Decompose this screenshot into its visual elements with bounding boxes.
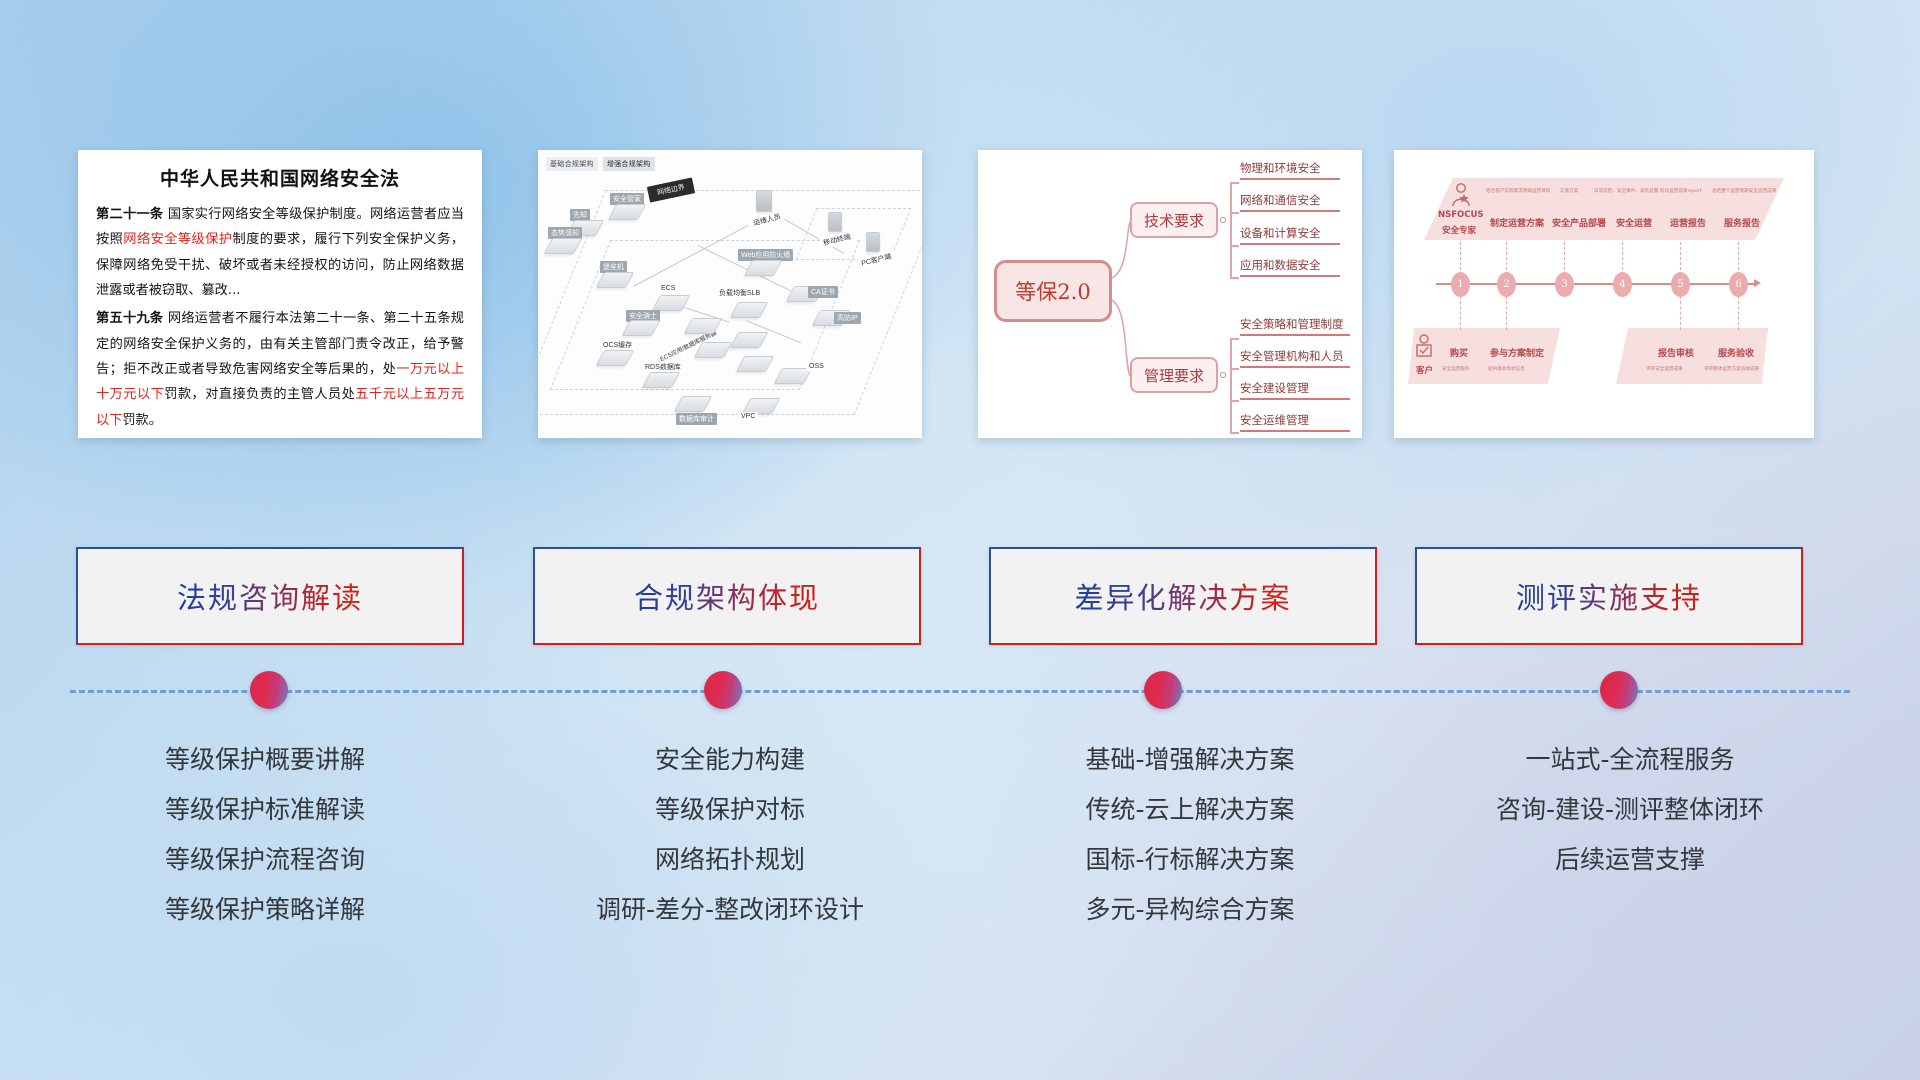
nsfocus-bottom-note-1: 安全运营服务 [1442, 366, 1470, 372]
list-item: 等级保护对标 [520, 785, 940, 835]
arch-node-oss: OSS [778, 368, 808, 384]
list-item: 传统-云上解决方案 [960, 785, 1420, 835]
timeline-dot-1[interactable] [250, 671, 288, 709]
nsfocus-dash-b2 [1506, 296, 1507, 330]
card-law-document[interactable]: 中华人民共和国网络安全法 第二十一条 国家实行网络安全等级保护制度。网络运营者应… [78, 150, 482, 438]
nsfocus-axis-arrow [1754, 279, 1761, 287]
nsfocus-bottom-note-3: 评审安全运营成果 [1646, 366, 1683, 372]
list-item: 国标-行标解决方案 [960, 835, 1420, 885]
timeline-dashed-line [70, 690, 1850, 693]
law-body-text: 罚款。 [122, 413, 162, 428]
list-item: 等级保护流程咨询 [50, 835, 480, 885]
law-article-21: 第二十一条 国家实行网络安全等级保护制度。网络运营者应当按照网络安全等级保护制度… [96, 202, 464, 303]
card-mindmap[interactable]: 等保2.0 技术要求 管理要求 物理和环境安全 网络和通信安全 设备和计算安全 … [978, 150, 1362, 438]
nsfocus-process-diagram: NSFOCUS 安全专家 结合客户实际需求明确运营目标 制定运营方案 实施方案 … [1394, 150, 1814, 438]
nsfocus-step-node-5[interactable]: 5 [1671, 272, 1690, 297]
mindmap-tick-m4 [1230, 432, 1239, 434]
arch-node-rds-database: RDS数据库 [646, 372, 676, 388]
list-item: 等级保护策略详解 [50, 885, 480, 935]
arch-node-db-audit: 数据库审计 [678, 396, 708, 412]
arch-node-ocs-cache: OCS缓存 [600, 350, 630, 366]
nsfocus-bottom-title-1: 购买 [1450, 346, 1468, 359]
arch-node-vpc: VPC [746, 398, 776, 414]
law-article-label: 第五十九条 [96, 311, 163, 326]
arch-node-mobile-terminal: 移动终端 [828, 212, 842, 232]
header-label-4: 测评实施支持 [1516, 575, 1702, 617]
customer-icon [1414, 334, 1434, 360]
mindmap-leaf-m3: 安全建设管理 [1240, 380, 1350, 400]
section-headers-row: 法规咨询解读 合规架构体现 差异化解决方案 测评实施支持 [0, 547, 1920, 645]
list-item: 等级保护标准解读 [50, 785, 480, 835]
arch-node-ops-staff: 运维人员 [756, 190, 772, 212]
mindmap-tick-t3 [1230, 245, 1239, 247]
arch-node-security-knight: 安全骑士 [626, 320, 656, 336]
list-item: 等级保护概要讲解 [50, 735, 480, 785]
nsfocus-top-note-1: 结合客户实际需求明确运营目标 [1486, 188, 1550, 194]
nsfocus-step-node-6[interactable]: 6 [1729, 272, 1748, 297]
mindmap-leaf-t4: 应用和数据安全 [1240, 257, 1340, 277]
nsfocus-step-node-4[interactable]: 4 [1613, 272, 1632, 297]
detail-lists-row: 等级保护概要讲解 等级保护标准解读 等级保护流程咨询 等级保护策略详解 安全能力… [0, 735, 1920, 985]
mindmap-tick-m1 [1230, 338, 1239, 340]
list-item: 调研-差分-整改闭环设计 [520, 885, 940, 935]
nsfocus-dash-b4 [1738, 296, 1739, 330]
mindmap-leaf-t1: 物理和环境安全 [1240, 160, 1340, 180]
security-expert-icon [1450, 182, 1472, 208]
mindmap-branch-management: 管理要求 [1130, 357, 1218, 393]
list-item: 安全能力构建 [520, 735, 940, 785]
nsfocus-top-title-2: 安全产品部署 [1552, 216, 1606, 229]
arch-node-situation-awareness: 态势感知 [548, 238, 578, 254]
nsfocus-top-title-1: 制定运营方案 [1490, 216, 1544, 229]
arch-node-ca-certificate: CA证书 [790, 286, 820, 302]
law-highlight-text: 网络安全等级保护 [123, 232, 232, 247]
nsfocus-axis-line [1436, 283, 1756, 285]
mindmap-tick-t4 [1230, 277, 1239, 279]
timeline-track [0, 688, 1920, 694]
thumbnail-cards-row: 中华人民共和国网络安全法 第二十一条 国家实行网络安全等级保护制度。网络运营者应… [0, 150, 1920, 440]
header-box-evaluation-support[interactable]: 测评实施支持 [1415, 547, 1803, 645]
nsfocus-top-title-4: 运营报告 [1670, 216, 1706, 229]
nsfocus-top-note-2: 实施方案 [1560, 188, 1578, 194]
law-article-59: 第五十九条 网络运营者不履行本法第二十一条、第二十五条规定的网络安全保护义务的，… [96, 306, 464, 433]
nsfocus-step-node-1[interactable]: 1 [1451, 272, 1470, 297]
architecture-diagram: 基础合规架构 增强合规架构 网络边界 安全管家 先知 [538, 150, 922, 438]
law-article-label: 第二十一条 [96, 207, 163, 222]
arch-node-server-stack-a [688, 318, 718, 334]
mindmap-tick-t2 [1230, 212, 1239, 214]
arch-node-security-butler: 安全管家 [608, 204, 642, 220]
nsfocus-top-note-3: 日常巡检、安全事件、高危处置 [1594, 188, 1658, 194]
mindmap-leaf-m1: 安全策略和管理制度 [1240, 316, 1350, 336]
header-label-3: 差异化解决方案 [1074, 575, 1291, 617]
nsfocus-top-title-3: 安全运营 [1616, 216, 1652, 229]
list-item: 多元-异构综合方案 [960, 885, 1420, 935]
list-item: 后续运营支撑 [1430, 835, 1830, 885]
law-body-text: 罚款，对直接负责的主管人员处 [164, 387, 355, 402]
law-document-body: 中华人民共和国网络安全法 第二十一条 国家实行网络安全等级保护制度。网络运营者应… [78, 150, 482, 438]
mindmap-tick-m2 [1230, 368, 1239, 370]
nsfocus-dash-b1 [1460, 296, 1461, 330]
nsfocus-bottom-note-4: 评审整体运营方案验收成果 [1704, 366, 1759, 372]
tab-enhanced-compliance[interactable]: 增强合规架构 [603, 157, 655, 171]
nsfocus-bottom-title-4: 服务验收 [1718, 346, 1754, 359]
header-label-1: 法规咨询解读 [177, 575, 363, 617]
arch-node-server-stack-d [740, 356, 770, 372]
architecture-tabs: 基础合规架构 增强合规架构 [546, 157, 655, 171]
arch-node-server-stack-b [698, 342, 728, 358]
nsfocus-bottom-actor: 客户 [1416, 364, 1433, 376]
detail-list-column-4: 一站式-全流程服务 咨询-建设-测评整体闭环 后续运营支撑 [1430, 735, 1830, 885]
nsfocus-top-title-5: 服务报告 [1724, 216, 1760, 229]
nsfocus-top-note-4: 阶段运营成果report [1660, 188, 1702, 194]
mindmap-leaf-t2: 网络和通信安全 [1240, 192, 1340, 212]
arch-node-anti-ddos-ip: 高防IP [816, 310, 846, 326]
list-item: 基础-增强解决方案 [960, 735, 1420, 785]
detail-list-column-1: 等级保护概要讲解 等级保护标准解读 等级保护流程咨询 等级保护策略详解 [50, 735, 480, 935]
mindmap-leaf-m4: 安全运维管理 [1240, 412, 1350, 432]
timeline-dot-4[interactable] [1600, 671, 1638, 709]
mindmap-tick-m3 [1230, 400, 1239, 402]
mindmap-tick-t1 [1230, 182, 1239, 184]
arch-node-waf: Web应用防火墙 [738, 260, 778, 276]
nsfocus-top-actor-line1: NSFOCUS [1438, 210, 1484, 220]
arch-node-pc-client: PC客户端 [866, 232, 880, 252]
mindmap-branch-technical: 技术要求 [1130, 202, 1218, 238]
arch-node-slb: 负载均衡SLB [716, 296, 764, 318]
detail-list-column-3: 基础-增强解决方案 传统-云上解决方案 国标-行标解决方案 多元-异构综合方案 [960, 735, 1420, 935]
mindmap-leaf-m2: 安全管理机构和人员 [1240, 348, 1350, 368]
mindmap-collapse-dot-technical[interactable] [1220, 217, 1226, 223]
card-nsfocus-timeline[interactable]: NSFOCUS 安全专家 结合客户实际需求明确运营目标 制定运营方案 实施方案 … [1394, 150, 1814, 438]
arch-node-server-stack-c [734, 332, 764, 348]
mindmap-collapse-dot-management[interactable] [1220, 372, 1226, 378]
header-label-2: 合规架构体现 [634, 575, 820, 617]
arch-node-bastion-host: 堡垒机 [600, 272, 630, 288]
timeline-dot-2[interactable] [704, 671, 742, 709]
header-box-differentiated-solution[interactable]: 差异化解决方案 [989, 547, 1377, 645]
list-item: 一站式-全流程服务 [1430, 735, 1830, 785]
mindmap-root-node: 等保2.0 [994, 260, 1112, 322]
detail-list-column-2: 安全能力构建 等级保护对标 网络拓扑规划 调研-差分-整改闭环设计 [520, 735, 940, 935]
nsfocus-dash-b3 [1680, 296, 1681, 330]
nsfocus-step-node-3[interactable]: 3 [1555, 272, 1574, 297]
nsfocus-bottom-title-2: 参与方案制定 [1490, 346, 1544, 359]
mindmap-leaf-t3: 设备和计算安全 [1240, 225, 1340, 245]
list-item: 网络拓扑规划 [520, 835, 940, 885]
nsfocus-bottom-note-2: 提供基本现状信息 [1488, 366, 1525, 372]
nsfocus-step-node-2[interactable]: 2 [1497, 272, 1516, 297]
nsfocus-top-note-5: 总结整个运营周期安全运营成果 [1712, 188, 1776, 194]
list-item: 咨询-建设-测评整体闭环 [1430, 785, 1830, 835]
mindmap-spine-technical [1230, 182, 1232, 278]
nsfocus-bottom-title-3: 报告审核 [1658, 346, 1694, 359]
arch-node-ecs: ECS [656, 295, 686, 311]
nsfocus-top-actor-line2: 安全专家 [1442, 224, 1476, 236]
mindmap-spine-management [1230, 338, 1232, 434]
timeline-dot-3[interactable] [1144, 671, 1182, 709]
mindmap-diagram: 等保2.0 技术要求 管理要求 物理和环境安全 网络和通信安全 设备和计算安全 … [978, 150, 1362, 438]
header-box-compliance-architecture[interactable]: 合规架构体现 [533, 547, 921, 645]
header-box-regulation-consulting[interactable]: 法规咨询解读 [76, 547, 464, 645]
law-title: 中华人民共和国网络安全法 [96, 164, 464, 191]
tab-basic-compliance[interactable]: 基础合规架构 [546, 157, 598, 171]
card-cloud-architecture[interactable]: 基础合规架构 增强合规架构 网络边界 安全管家 先知 [538, 150, 922, 438]
